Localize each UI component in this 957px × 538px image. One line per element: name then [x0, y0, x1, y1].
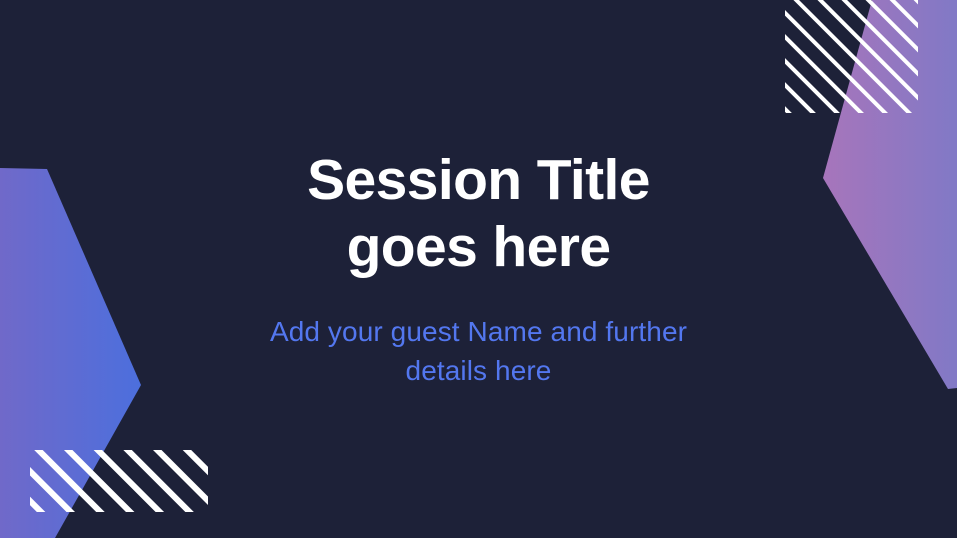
page-title: Session Title goes here [264, 147, 694, 282]
slide-text-block: Session Title goes here Add your guest N… [0, 0, 957, 538]
presentation-slide: Session Title goes here Add your guest N… [0, 0, 957, 538]
slide-subtitle: Add your guest Name and further details … [269, 312, 689, 392]
